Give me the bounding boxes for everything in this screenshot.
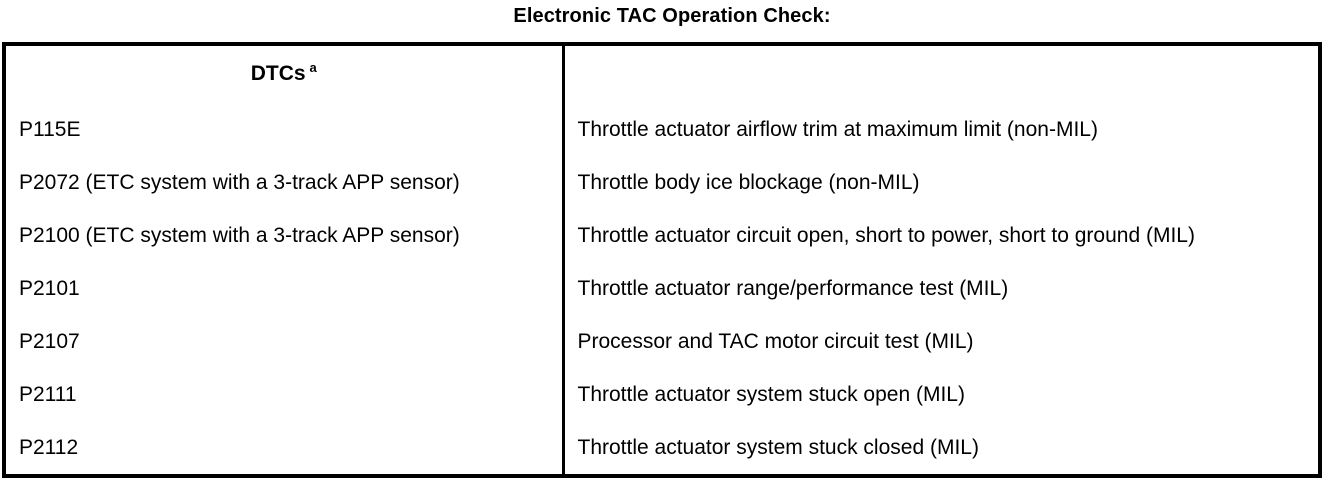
dtc-table: DTCsa P115E Throttle actuator airflow tr… <box>6 46 1318 474</box>
page-root: Electronic TAC Operation Check: DTCsa P1… <box>0 0 1344 482</box>
table-row: P2112 Throttle actuator system stuck clo… <box>6 421 1318 474</box>
dtc-table-container: DTCsa P115E Throttle actuator airflow tr… <box>2 42 1322 478</box>
cell-dtc-description: Processor and TAC motor circuit test (MI… <box>563 315 1318 368</box>
cell-dtc-code: P2112 <box>6 421 563 474</box>
cell-dtc-description: Throttle body ice blockage (non-MIL) <box>563 156 1318 209</box>
table-header: DTCsa <box>6 46 1318 103</box>
cell-dtc-code: P2100 (ETC system with a 3-track APP sen… <box>6 209 563 262</box>
table-row: P2111 Throttle actuator system stuck ope… <box>6 368 1318 421</box>
cell-dtc-code: P2111 <box>6 368 563 421</box>
table-body: P115E Throttle actuator airflow trim at … <box>6 103 1318 474</box>
cell-dtc-code: P2072 (ETC system with a 3-track APP sen… <box>6 156 563 209</box>
cell-dtc-description: Throttle actuator range/performance test… <box>563 262 1318 315</box>
cell-dtc-code: P2101 <box>6 262 563 315</box>
column-header-dtcs: DTCsa <box>6 46 563 103</box>
table-row: P115E Throttle actuator airflow trim at … <box>6 103 1318 156</box>
table-row: P2100 (ETC system with a 3-track APP sen… <box>6 209 1318 262</box>
table-row: P2107 Processor and TAC motor circuit te… <box>6 315 1318 368</box>
table-header-row: DTCsa <box>6 46 1318 103</box>
cell-dtc-description: Throttle actuator airflow trim at maximu… <box>563 103 1318 156</box>
table-row: P2072 (ETC system with a 3-track APP sen… <box>6 156 1318 209</box>
cell-dtc-description: Throttle actuator system stuck open (MIL… <box>563 368 1318 421</box>
page-title: Electronic TAC Operation Check: <box>0 0 1344 36</box>
column-header-dtcs-label: DTCs <box>251 62 306 85</box>
cell-dtc-code: P2107 <box>6 315 563 368</box>
column-header-dtcs-footnote-marker: a <box>306 60 317 75</box>
cell-dtc-code: P115E <box>6 103 563 156</box>
cell-dtc-description: Throttle actuator system stuck closed (M… <box>563 421 1318 474</box>
cell-dtc-description: Throttle actuator circuit open, short to… <box>563 209 1318 262</box>
column-header-description <box>563 46 1318 103</box>
table-row: P2101 Throttle actuator range/performanc… <box>6 262 1318 315</box>
